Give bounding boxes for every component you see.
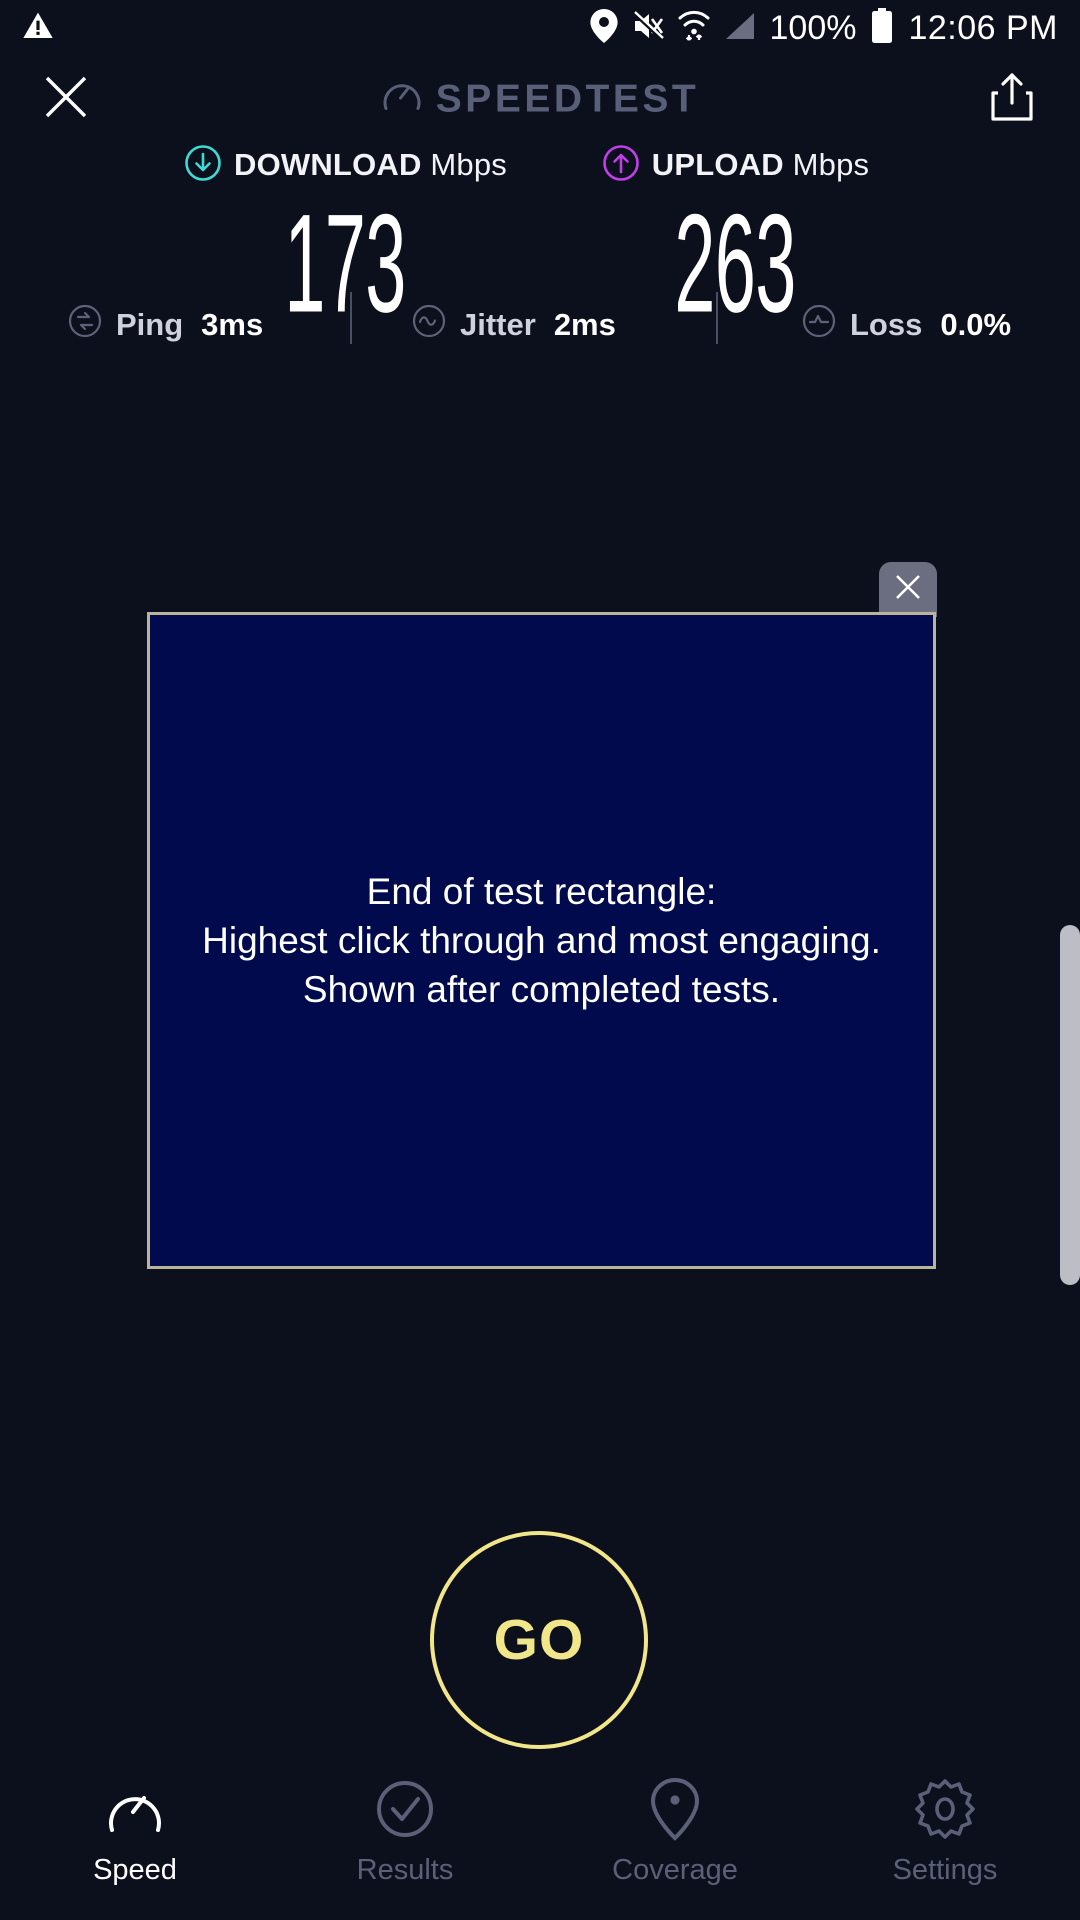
bottom-navigation-bar: Speed Results Coverage — [0, 1760, 1080, 1920]
metric-ping[interactable]: Ping 3ms — [66, 302, 263, 348]
upload-result: UPLOAD Mbps 263 — [540, 142, 930, 306]
speedometer-icon — [103, 1778, 167, 1840]
download-header: DOWNLOAD Mbps — [150, 142, 540, 188]
status-bar-left — [22, 10, 54, 47]
speed-results-row: DOWNLOAD Mbps 173 UPLOAD Mbps 263 — [0, 142, 1080, 306]
loss-label: Loss — [850, 307, 922, 343]
nav-label-coverage: Coverage — [612, 1854, 738, 1887]
status-bar-right: 100% 12:06 PM — [590, 8, 1059, 49]
nav-item-coverage[interactable]: Coverage — [540, 1760, 810, 1920]
page-title: SPEEDTEST — [436, 77, 699, 121]
jitter-icon — [410, 302, 448, 348]
jitter-value: 2ms — [554, 307, 616, 343]
battery-percent-label: 100% — [770, 9, 857, 48]
download-label: DOWNLOAD Mbps — [234, 147, 507, 183]
warning-triangle-icon — [22, 10, 54, 47]
metric-jitter[interactable]: Jitter 2ms — [410, 302, 616, 348]
ping-label: Ping — [116, 307, 183, 343]
status-bar: 100% 12:06 PM — [0, 0, 1080, 56]
wifi-icon — [678, 9, 710, 48]
ad-text: End of test rectangle: Highest click thr… — [150, 867, 933, 1015]
metric-divider-1 — [350, 292, 352, 344]
app-header: SPEEDTEST — [0, 56, 1080, 142]
go-button-label: GO — [494, 1607, 585, 1673]
upload-unit: Mbps — [793, 147, 870, 182]
loss-value: 0.0% — [940, 307, 1011, 343]
battery-full-icon — [870, 8, 894, 49]
jitter-label: Jitter — [460, 307, 536, 343]
speedtest-app-screen: 100% 12:06 PM — [0, 0, 1080, 1920]
upload-name: UPLOAD — [652, 147, 784, 182]
location-pin-icon — [590, 9, 618, 48]
download-result: DOWNLOAD Mbps 173 — [150, 142, 540, 306]
clock-label: 12:06 PM — [908, 9, 1058, 48]
ad-line-2: Highest click through and most engaging. — [158, 916, 925, 965]
download-name: DOWNLOAD — [234, 147, 422, 182]
nav-item-results[interactable]: Results — [270, 1760, 540, 1920]
check-circle-icon — [374, 1778, 436, 1840]
vertical-scrollbar[interactable] — [1060, 925, 1080, 1285]
metric-divider-2 — [716, 292, 718, 344]
ad-line-1: End of test rectangle: — [158, 867, 925, 916]
nav-label-speed: Speed — [93, 1854, 177, 1887]
ping-value: 3ms — [201, 307, 263, 343]
download-arrow-icon — [183, 143, 223, 188]
upload-arrow-icon — [601, 143, 641, 188]
upload-header: UPLOAD Mbps — [540, 142, 930, 188]
mute-icon — [632, 11, 664, 46]
upload-label: UPLOAD Mbps — [652, 147, 870, 183]
nav-label-settings: Settings — [893, 1854, 998, 1887]
gear-icon — [913, 1778, 977, 1840]
share-icon — [990, 71, 1034, 128]
header-title-group: SPEEDTEST — [0, 76, 1080, 123]
results-panel: DOWNLOAD Mbps 173 UPLOAD Mbps 263 — [0, 142, 1080, 306]
ad-close-button[interactable] — [879, 562, 937, 617]
nav-item-speed[interactable]: Speed — [0, 1760, 270, 1920]
share-button[interactable] — [984, 69, 1040, 129]
location-pin-icon — [648, 1778, 702, 1840]
loss-icon — [800, 302, 838, 348]
advertisement-banner[interactable]: End of test rectangle: Highest click thr… — [147, 612, 936, 1269]
nav-label-results: Results — [357, 1854, 454, 1887]
ping-icon — [66, 302, 104, 348]
download-unit: Mbps — [430, 147, 507, 182]
metric-loss[interactable]: Loss 0.0% — [800, 302, 1011, 348]
cellular-signal-icon — [724, 11, 756, 46]
speedometer-icon — [381, 76, 423, 123]
ad-line-3: Shown after completed tests. — [158, 965, 925, 1014]
nav-item-settings[interactable]: Settings — [810, 1760, 1080, 1920]
go-button[interactable]: GO — [430, 1531, 648, 1749]
close-icon — [893, 572, 923, 607]
